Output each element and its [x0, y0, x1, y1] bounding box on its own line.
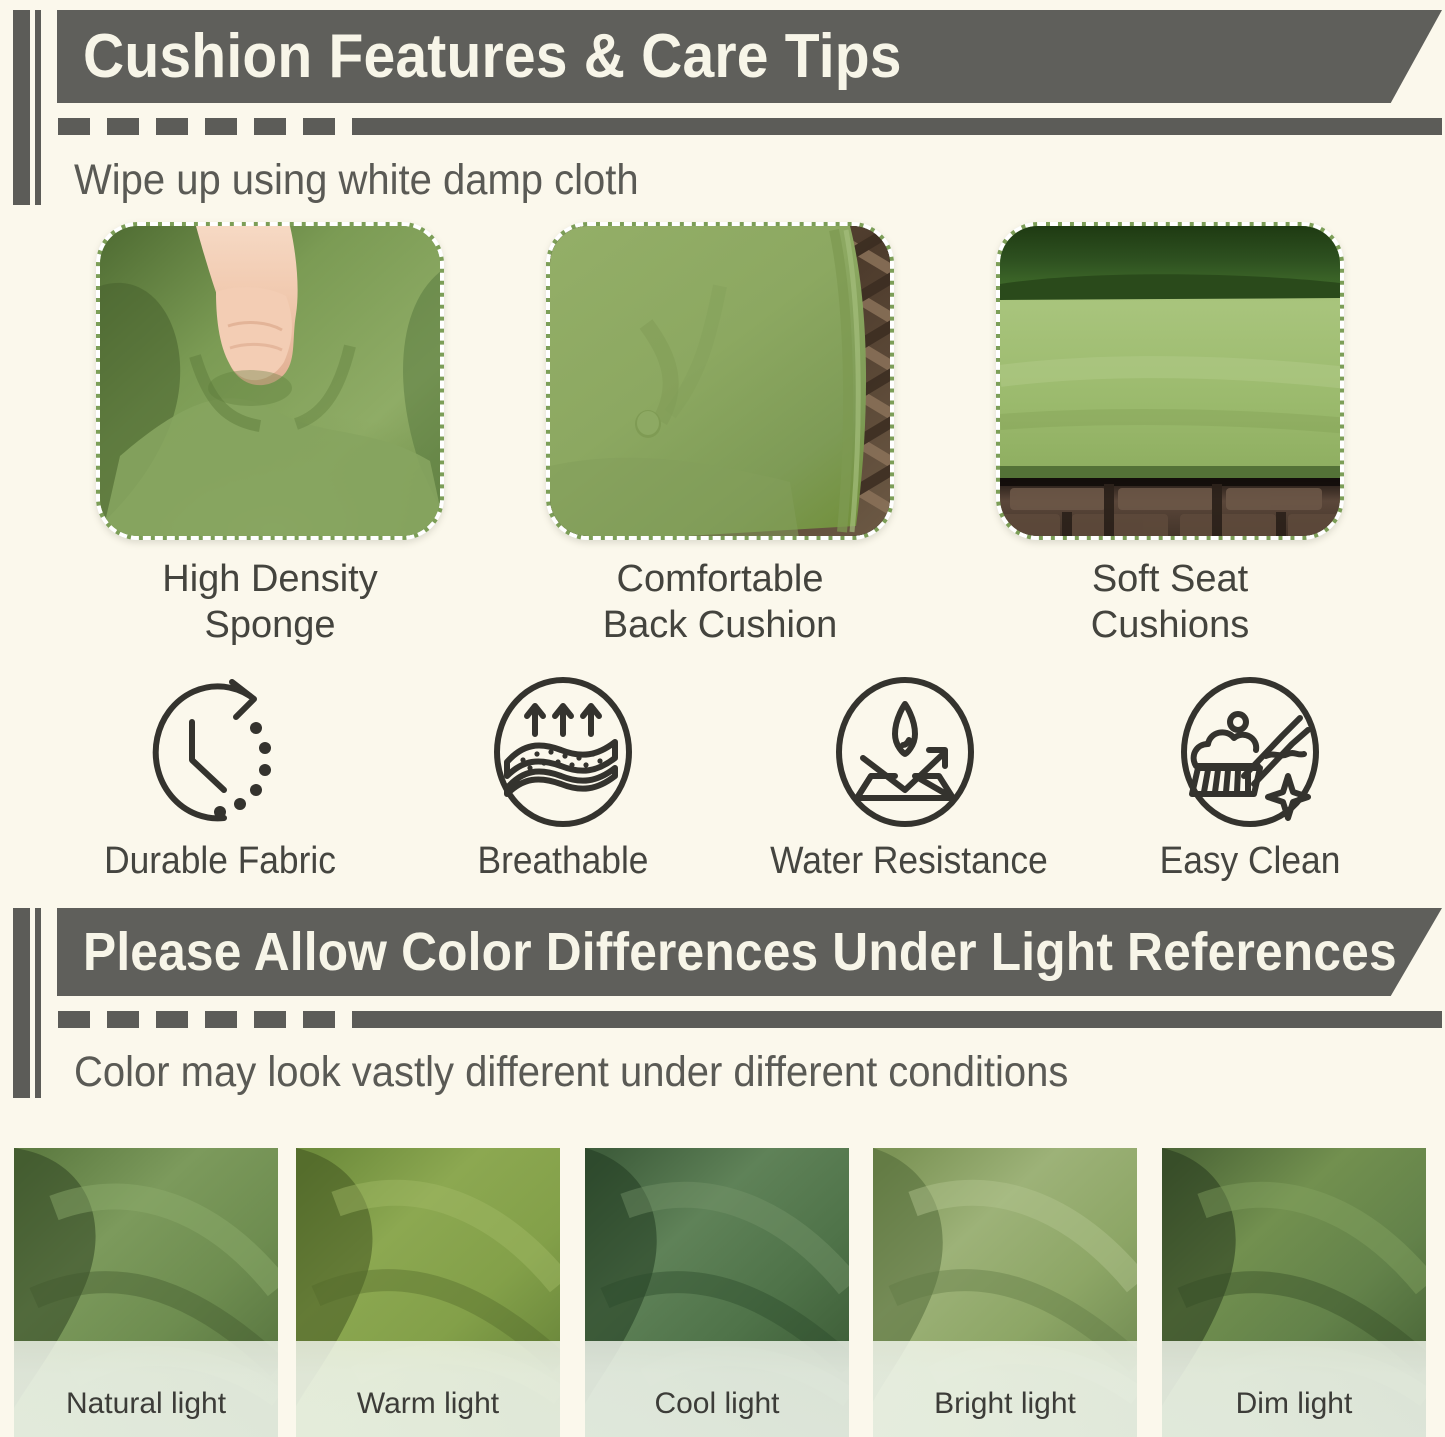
feature-card-label-line2: Cushions [996, 602, 1344, 648]
color-swatch[interactable]: Warm light [296, 1148, 560, 1437]
color-swatch-row: Natural light Warm light [0, 1148, 1445, 1437]
feature-card-label-line1: High Density [96, 556, 444, 602]
feature-card[interactable]: Soft Seat Cushions [996, 222, 1344, 540]
feature-icon-label: Water Resistance [770, 840, 1040, 883]
dash-segment [254, 1011, 286, 1028]
accent-bar-thick [13, 908, 30, 1098]
dash-segment [303, 118, 335, 135]
feature-card-label: Soft Seat Cushions [996, 556, 1344, 649]
color-swatch[interactable]: Bright light [873, 1148, 1137, 1437]
feature-icon-label: Easy Clean [1120, 840, 1380, 883]
dash-segment [58, 118, 90, 135]
divider-line [352, 1011, 1442, 1028]
swatch-label: Natural light [14, 1387, 278, 1421]
feature-icon-label: Breathable [447, 840, 680, 883]
feature-cards-row: High Density Sponge [0, 222, 1445, 652]
section-header-color-differences: Please Allow Color Differences Under Lig… [0, 908, 1445, 1100]
feature-card-label-line1: Soft Seat [996, 556, 1344, 602]
feature-icon-item[interactable]: Durable Fabric [90, 672, 350, 883]
left-accent-bars [13, 908, 43, 1098]
swatch-label: Cool light [585, 1387, 849, 1421]
color-swatch[interactable]: Dim light [1162, 1148, 1426, 1437]
dash-segment [205, 1011, 237, 1028]
comfortable-back-cushion-photo [546, 222, 894, 540]
feature-card-label: Comfortable Back Cushion [546, 556, 894, 649]
high-density-sponge-photo [96, 222, 444, 540]
section-subtitle: Color may look vastly different under di… [74, 1048, 1068, 1097]
dash-segment [303, 1011, 335, 1028]
dashed-divider [58, 1011, 1442, 1028]
feature-card-label-line2: Back Cushion [546, 602, 894, 648]
back-cushion-illustration [550, 226, 894, 540]
dash-segment [205, 118, 237, 135]
divider-line [352, 118, 1442, 135]
dash-segment [107, 1011, 139, 1028]
dash-segment [156, 1011, 188, 1028]
dash-segment [156, 118, 188, 135]
cushion-hand-illustration [100, 226, 444, 540]
cleaning-brush-icon [1162, 672, 1338, 832]
accent-bar-thin [35, 10, 41, 205]
feature-icon-item[interactable]: Easy Clean [1110, 672, 1390, 883]
feature-card-label-line2: Sponge [96, 602, 444, 648]
feature-card[interactable]: Comfortable Back Cushion [546, 222, 894, 540]
breathable-fabric-icon [475, 672, 651, 832]
feature-icon-item[interactable]: Breathable [438, 672, 688, 883]
swatch-label: Dim light [1162, 1387, 1426, 1421]
feature-card-label-line1: Comfortable [546, 556, 894, 602]
swatch-label: Bright light [873, 1387, 1137, 1421]
seat-cushion-illustration [1000, 226, 1344, 540]
left-accent-bars [13, 10, 43, 205]
feature-icon-item[interactable]: Water Resistance [760, 672, 1050, 883]
banner-color-differences: Please Allow Color Differences Under Lig… [57, 908, 1442, 996]
banner-title: Cushion Features & Care Tips [83, 21, 902, 92]
feature-card-label: High Density Sponge [96, 556, 444, 649]
color-swatch[interactable]: Cool light [585, 1148, 849, 1437]
feature-icons-row: Durable Fabric Bre [0, 672, 1445, 897]
banner-cushion-features: Cushion Features & Care Tips [57, 10, 1442, 103]
feature-card[interactable]: High Density Sponge [96, 222, 444, 540]
dashed-divider [58, 118, 1442, 135]
swatch-label: Warm light [296, 1387, 560, 1421]
banner-title: Please Allow Color Differences Under Lig… [83, 921, 1397, 983]
feature-icon-label: Durable Fabric [99, 840, 341, 883]
section-subtitle: Wipe up using white damp cloth [74, 156, 639, 205]
accent-bar-thin [35, 908, 41, 1098]
soft-seat-cushion-photo [996, 222, 1344, 540]
dash-segment [58, 1011, 90, 1028]
dash-segment [107, 118, 139, 135]
section-header-cushion-features: Cushion Features & Care Tips Wipe up usi… [0, 10, 1445, 210]
clock-arrow-icon [132, 672, 308, 832]
color-swatch[interactable]: Natural light [14, 1148, 278, 1437]
dash-segment [254, 118, 286, 135]
infographic-root: Cushion Features & Care Tips Wipe up usi… [0, 0, 1445, 1437]
water-droplet-repel-icon [817, 672, 993, 832]
accent-bar-thick [13, 10, 30, 205]
